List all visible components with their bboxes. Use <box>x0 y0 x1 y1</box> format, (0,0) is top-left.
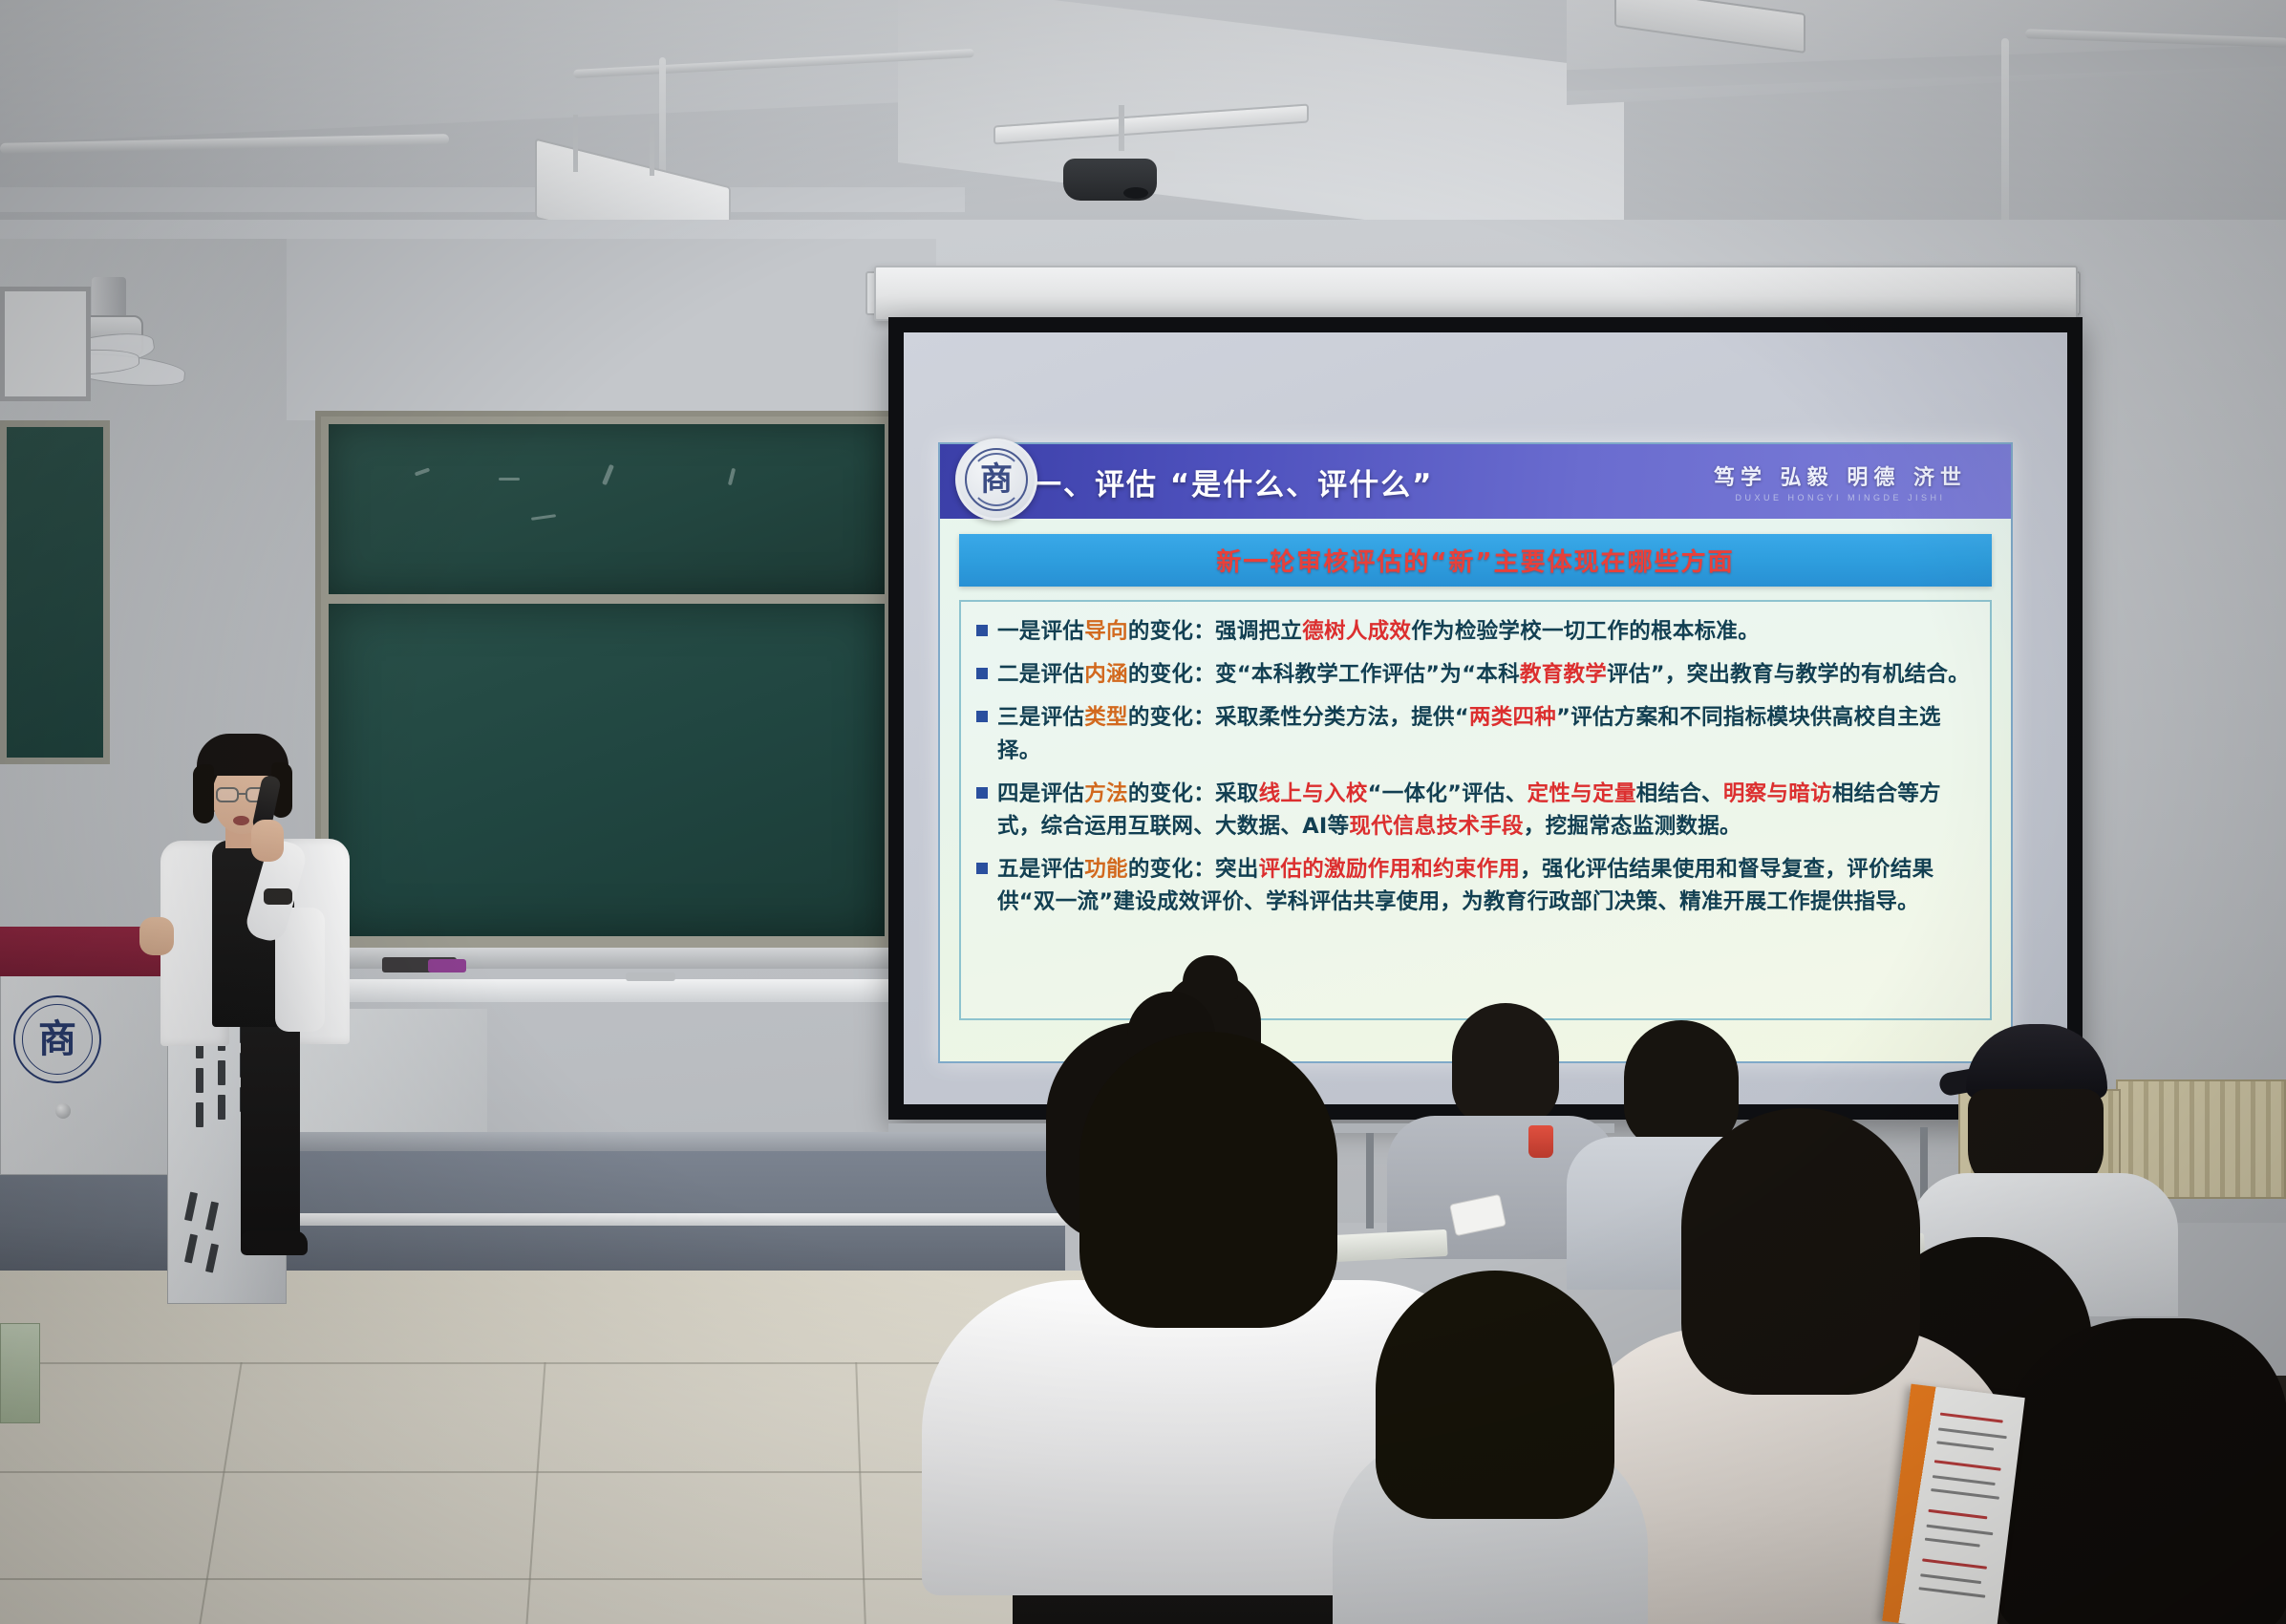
slide-bullet-text: 五是评估功能的变化：突出评估的激励作用和约束作用，强化评估结果使用和督导复查，评… <box>997 853 1975 918</box>
bullet-segment: 的变化：变“本科教学工作评估”为“本科 <box>1128 662 1520 687</box>
bullet-segment: 功能 <box>1084 857 1128 882</box>
wall-rail-bar-2 <box>1366 1133 1374 1229</box>
bullet-segment: 导向 <box>1084 619 1128 644</box>
bullet-segment: 评估”，突出教育与教学的有机结合。 <box>1607 662 1970 687</box>
ceiling-beam-left <box>0 187 965 212</box>
bullet-segment: 内涵 <box>1084 662 1128 687</box>
projection-screen-case <box>874 266 2078 321</box>
presenter-mouth <box>233 816 249 825</box>
motto-pinyin: DUXUE HONGYI MINGDE JISHI <box>1714 493 1967 502</box>
bullet-segment: 方法 <box>1084 781 1128 806</box>
presenter-hand-right <box>251 820 284 862</box>
slide-bullet: 二是评估内涵的变化：变“本科教学工作评估”为“本科教育教学评估”，突出教育与教学… <box>976 658 1975 691</box>
presenter-hair-side-left <box>193 764 214 823</box>
bullet-segment: 线上与入校 <box>1259 781 1368 806</box>
ceiling-pipe-drop <box>2001 38 2009 229</box>
slide-bullet-text: 三是评估类型的变化：采取柔性分类方法，提供“两类四种”评估方案和不同指标模块供高… <box>997 701 1975 766</box>
slide-header: 商 一、评估 “是什么、评什么” 笃学 弘毅 明德 济世 DUXUE HONGY… <box>940 444 2011 519</box>
lecture-hall-photo: 商 一、评估 “是什么、评什么” 笃学 弘毅 明德 济世 DUXUE HONGY… <box>0 0 2286 1624</box>
bullet-segment: 三是评估 <box>997 705 1084 730</box>
bullet-square-icon <box>976 625 988 636</box>
slide-body: 新一轮审核评估的“新”主要体现在哪些方面 一是评估导向的变化：强调把立德树人成效… <box>940 519 2011 1030</box>
bullet-segment: 的变化：采取 <box>1128 781 1259 806</box>
bullet-segment: 两类四种 <box>1469 705 1556 730</box>
light-rod-2 <box>650 124 654 176</box>
bullet-segment: 的变化：突出 <box>1128 857 1259 882</box>
slide-section-title: 一、评估 “是什么、评什么” <box>1032 460 1434 503</box>
student-head-back-2 <box>1452 1003 1559 1125</box>
projector-lens <box>1123 187 1148 199</box>
slide-bullet-text: 四是评估方法的变化：采取线上与入校“一体化”评估、定性与定量相结合、明察与暗访相… <box>997 778 1975 843</box>
bullet-square-icon <box>976 668 988 679</box>
desk-lock <box>55 1103 71 1119</box>
glasses-bridge <box>239 793 246 795</box>
slide-bullet-list: 一是评估导向的变化：强调把立德树人成效作为检验学校一切工作的根本标准。二是评估内… <box>976 615 1975 919</box>
student-head-front-2 <box>1681 1108 1920 1395</box>
presentation-slide: 商 一、评估 “是什么、评什么” 笃学 弘毅 明德 济世 DUXUE HONGY… <box>938 442 2013 1063</box>
bullet-segment: 一是评估 <box>997 619 1084 644</box>
bullet-segment: 现代信息技术手段 <box>1349 814 1523 839</box>
slide-banner: 新一轮审核评估的“新”主要体现在哪些方面 <box>959 534 1992 587</box>
university-logo-inner: 商 <box>22 1004 93 1075</box>
university-logo-glyph: 商 <box>38 1020 76 1058</box>
presenter-wristwatch <box>264 888 292 905</box>
slide-bullet-text: 二是评估内涵的变化：变“本科教学工作评估”为“本科教育教学评估”，突出教育与教学… <box>997 658 1970 691</box>
bullet-segment: 作为检验学校一切工作的根本标准。 <box>1411 619 1760 644</box>
bullet-segment: 德树人成效 <box>1302 619 1411 644</box>
bullet-segment: 二是评估 <box>997 662 1084 687</box>
bullet-segment: 五是评估 <box>997 857 1084 882</box>
bullet-segment: 的变化：采取柔性分类方法，提供“ <box>1128 705 1469 730</box>
student-head-front-1 <box>1079 1032 1337 1328</box>
slide-bullet: 三是评估类型的变化：采取柔性分类方法，提供“两类四种”评估方案和不同指标模块供高… <box>976 701 1975 766</box>
blackboard-lower-panel <box>329 604 885 936</box>
light-rod-1 <box>573 115 578 172</box>
wall-ledge <box>287 979 974 1002</box>
slide-content-box: 一是评估导向的变化：强调把立德树人成效作为检验学校一切工作的根本标准。二是评估内… <box>959 600 1992 1020</box>
bullet-segment: 定性与定量 <box>1528 781 1636 806</box>
university-seal-icon: 商 <box>955 438 1037 521</box>
bullet-square-icon <box>976 863 988 874</box>
university-logo-icon: 商 <box>13 995 101 1083</box>
student-head-front-mid <box>1376 1271 1614 1519</box>
bullet-segment: 教育教学 <box>1520 662 1607 687</box>
bullet-segment: 评估的激励作用和约束作用 <box>1259 857 1521 882</box>
projection-screen-surface: 商 一、评估 “是什么、评什么” 笃学 弘毅 明德 济世 DUXUE HONGY… <box>904 332 2067 1104</box>
floor-conduit-pipe <box>239 1213 1070 1226</box>
bullet-segment: “一体化”评估、 <box>1368 781 1528 806</box>
bullet-segment: 明察与暗访 <box>1723 781 1832 806</box>
student-cup <box>1528 1125 1553 1158</box>
bullet-segment: 的变化：强调把立 <box>1128 619 1302 644</box>
bullet-segment: 类型 <box>1084 705 1128 730</box>
seal-arc <box>970 453 1023 506</box>
bullet-square-icon <box>976 711 988 722</box>
slide-bullet-text: 一是评估导向的变化：强调把立德树人成效作为检验学校一切工作的根本标准。 <box>997 615 1760 648</box>
blackboard-upper-panel <box>329 424 885 594</box>
wall-above-blackboard <box>287 239 936 420</box>
shelf-item-marker <box>428 959 466 972</box>
slide-bullet: 五是评估功能的变化：突出评估的激励作用和约束作用，强化评估结果使用和督导复查，评… <box>976 853 1975 918</box>
blackboard <box>315 411 898 955</box>
student-head-back-3 <box>1624 1020 1739 1149</box>
bullet-segment: ，挖掘常态监测数据。 <box>1524 814 1741 839</box>
seal-ring: 商 <box>965 448 1028 511</box>
blackboard-left-sliver <box>0 420 110 764</box>
floor-box <box>0 1323 40 1423</box>
presenter-shoe <box>241 1230 308 1255</box>
glasses-lens-left-icon <box>216 787 239 802</box>
university-motto: 笃学 弘毅 明德 济世 DUXUE HONGYI MINGDE JISHI <box>1714 460 1994 502</box>
motto-chinese: 笃学 弘毅 明德 济世 <box>1714 460 1967 491</box>
bullet-segment: 相结合、 <box>1636 781 1723 806</box>
bullet-segment: 四是评估 <box>997 781 1084 806</box>
wall-panel-small <box>0 287 91 401</box>
shelf-item-chalk <box>626 972 675 981</box>
student-bun-back-1 <box>1183 955 1238 999</box>
slide-banner-title: 新一轮审核评估的“新”主要体现在哪些方面 <box>1216 548 1734 577</box>
projection-screen: 商 一、评估 “是什么、评什么” 笃学 弘毅 明德 济世 DUXUE HONGY… <box>888 317 2083 1120</box>
presenter-hand-left <box>139 917 174 955</box>
presenter-legs <box>241 1020 300 1240</box>
bullet-square-icon <box>976 787 988 799</box>
slide-bullet: 一是评估导向的变化：强调把立德树人成效作为检验学校一切工作的根本标准。 <box>976 615 1975 648</box>
slide-bullet: 四是评估方法的变化：采取线上与入校“一体化”评估、定性与定量相结合、明察与暗访相… <box>976 778 1975 843</box>
student-head-front-3 <box>1997 1318 2286 1624</box>
